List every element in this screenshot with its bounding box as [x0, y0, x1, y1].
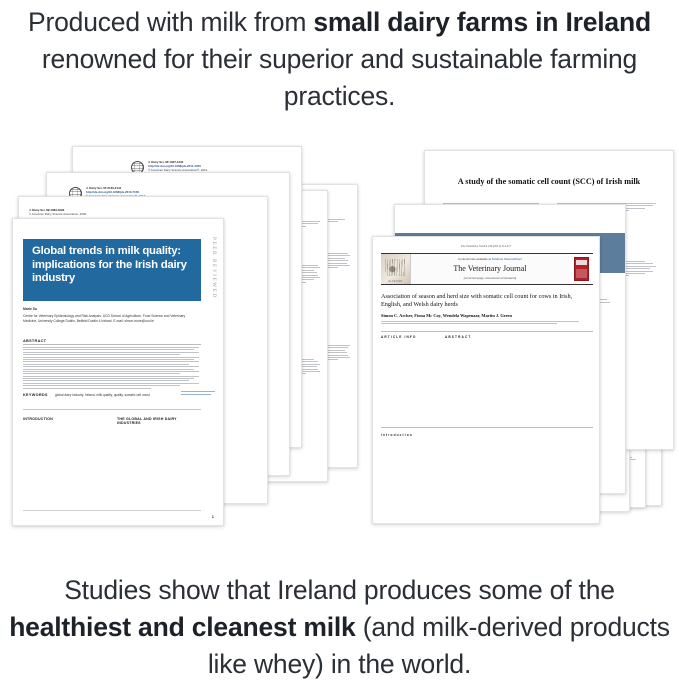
vj-masthead-center: Contents lists available at SciVerse Sci… [411, 254, 569, 284]
vj-rule-top [381, 331, 593, 332]
headline-top: Produced with milk from small dairy farm… [0, 4, 679, 115]
gt-affiliation: Centre for Veterinary Epidemiology and R… [23, 314, 199, 323]
gt-column-introduction: INTRODUCTION [23, 417, 107, 423]
gt-author: Marie Su [23, 307, 37, 311]
gt-abstract-rule [23, 344, 201, 345]
vj-introduction-heading: Introduction [381, 433, 482, 437]
sciencedirect-link[interactable]: SciVerse ScienceDirect [492, 257, 522, 261]
headline-bottom-part1: Studies show that Ireland produces some … [64, 575, 615, 605]
vj-affiliations [381, 321, 581, 326]
headline-top-part2: renowned for their superior and sustaina… [42, 44, 637, 111]
gt-keywords-text: global dairy industry, Ireland, milk qua… [55, 393, 165, 397]
vj-masthead: ELSEVIER Contents lists available at Sci… [381, 253, 593, 285]
gt-peer-reviewed-label: PEER REVIEWED [211, 237, 217, 299]
gt-article-title: Global trends in milk quality: implicati… [32, 245, 198, 286]
headline-top-part1: Produced with milk from [28, 7, 313, 37]
vj-article-info-column: ARTICLE INFO [381, 335, 437, 342]
gt-abstract-lines [23, 347, 201, 390]
vj-sciencedirect-line: Contents lists available at SciVerse Sci… [411, 257, 569, 261]
gt-mid-rule [23, 409, 201, 410]
vj-abstract-heading: ABSTRACT [445, 335, 593, 339]
vj-abstract-column: ABSTRACT [445, 335, 593, 342]
infographic-page: Produced with milk from small dairy farm… [0, 0, 679, 681]
gt-page-number: 1 [212, 514, 214, 519]
scc-study-title: A study of the somatic cell count (SCC) … [425, 177, 673, 186]
gt-industries-heading: THE GLOBAL AND IRISH DAIRY INDUSTRIES [117, 417, 201, 425]
elsevier-tree-icon: ELSEVIER [381, 254, 411, 284]
vj-journal-name: The Veterinary Journal [411, 264, 569, 273]
elsevier-label: ELSEVIER [381, 280, 410, 283]
gt-column-industries: THE GLOBAL AND IRISH DAIRY INDUSTRIES [117, 417, 201, 427]
gt-abstract-heading: ABSTRACT [23, 339, 46, 343]
vj-article-title: Association of season and herd size with… [381, 293, 577, 310]
journal-ref-header-3: J. Dairy Sci. 89:4083-4093 © American Da… [29, 209, 87, 217]
headline-bottom: Studies show that Ireland produces some … [0, 572, 679, 681]
vj-intro-right [492, 433, 593, 440]
vj-contents-text: Contents lists available at [458, 257, 492, 261]
vj-article-authors: Simon C. Archer, Fiona Mc Coy, Wendela W… [381, 313, 581, 318]
gt-publisher-logo [181, 391, 215, 396]
journal-copyright-3: © American Dairy Science Association, 20… [29, 213, 87, 217]
document-global-trends[interactable]: Global trends in milk quality: implicati… [12, 218, 224, 526]
vj-cover-image [574, 257, 589, 281]
vj-running-head: The Veterinary Journal 196 (2013) 314-31… [373, 244, 599, 248]
vj-rule-bottom [381, 427, 593, 428]
headline-bottom-bold: healthiest and cleanest milk [9, 612, 355, 642]
vj-intro-left: Introduction [381, 433, 482, 440]
vj-journal-homepage[interactable]: journal homepage: www.elsevier.com/locat… [411, 277, 569, 280]
gt-introduction-heading: INTRODUCTION [23, 417, 107, 421]
vj-article-info-heading: ARTICLE INFO [381, 335, 437, 339]
gt-title-banner: Global trends in milk quality: implicati… [23, 239, 201, 301]
headline-top-bold: small dairy farms in Ireland [313, 7, 651, 37]
document-veterinary-journal[interactable]: The Veterinary Journal 196 (2013) 314-31… [372, 236, 600, 524]
journal-ref-text-1: J. Dairy Sci. 95:1327-1340 http://dx.doi… [148, 161, 208, 173]
gt-bottom-rule [23, 510, 201, 511]
gt-keywords-heading: KEYWORDS [23, 393, 48, 397]
journal-ref-text-3: J. Dairy Sci. 89:4083-4093 © American Da… [29, 209, 87, 217]
document-stack-stage: e RY 24 A study of the somatic cell coun… [0, 128, 679, 548]
vj-introduction-columns: Introduction [381, 433, 593, 440]
vj-issue-cover-thumb [569, 254, 593, 284]
